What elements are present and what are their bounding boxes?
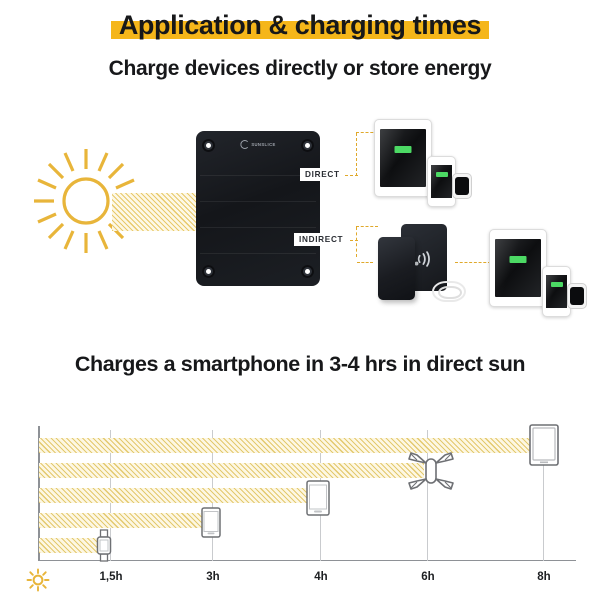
panel-grommet: [301, 139, 314, 152]
charging-diagram: SUNSLICE DIRECT INDIRECT: [0, 105, 600, 325]
panel-grommet: [202, 265, 215, 278]
solar-panel: SUNSLICE: [196, 131, 320, 286]
bar-smartphone: [39, 513, 206, 528]
panel-grommet: [202, 139, 215, 152]
direct-label: DIRECT: [300, 168, 345, 181]
page-subtitle: Charge devices directly or store energy: [0, 57, 600, 81]
smartwatch-device: [452, 173, 472, 199]
tick-label-1: 1,5h: [99, 571, 122, 583]
bar-smartphone-large: [39, 488, 311, 503]
indirect-label: INDIRECT: [294, 233, 348, 246]
tablet-device: [374, 119, 432, 197]
chart-title: Charges a smartphone in 3-4 hrs in direc…: [0, 352, 600, 377]
smartwatch-icon: [96, 529, 112, 562]
tick-label-4: 6h: [421, 571, 434, 583]
smartwatch-device: [567, 283, 587, 309]
brand-wordmark: SUNSLICE: [251, 142, 275, 147]
smartphone-large-icon: [306, 480, 330, 516]
bar-drone: [39, 463, 424, 478]
tablet-icon: [529, 424, 559, 466]
panel-grommet: [301, 265, 314, 278]
tick-label-3: 4h: [314, 571, 327, 583]
tick-label-5: 8h: [537, 571, 550, 583]
charging-time-chart: 1,5h 3h 4h 6h 8h: [0, 408, 600, 600]
tablet-device: [489, 229, 547, 307]
bar-smartwatch: [39, 538, 103, 553]
battery-indicator: [510, 256, 527, 263]
bar-tablet: [39, 438, 534, 453]
smartphone-icon: [201, 507, 221, 538]
page-title: Application & charging times: [0, 8, 600, 42]
tick-label-2: 3h: [206, 571, 219, 583]
battery-indicator: [551, 282, 563, 287]
page-title-text: Application & charging times: [119, 10, 481, 40]
power-bank-unit: [378, 237, 415, 300]
brand-logo-icon: SUNSLICE: [240, 140, 275, 149]
sun-icon: [26, 568, 50, 592]
drone-icon: [406, 449, 456, 493]
usb-cable: [432, 281, 466, 302]
chart-x-axis: [38, 560, 576, 561]
page-root: Application & charging times Charge devi…: [0, 0, 600, 600]
panel-to-bank-link: [357, 262, 373, 263]
bank-to-devices-link: [455, 262, 491, 263]
battery-indicator: [395, 146, 412, 153]
battery-indicator: [436, 172, 448, 177]
